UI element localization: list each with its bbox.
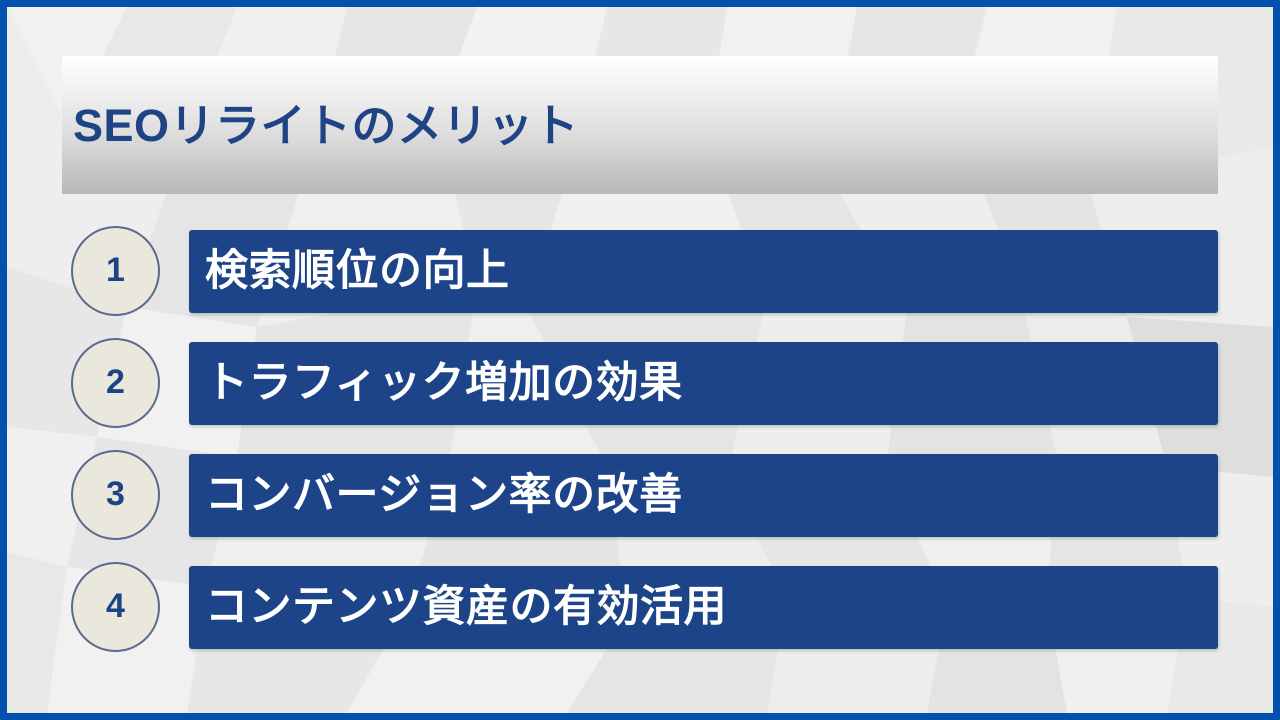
benefit-label: コンテンツ資産の有効活用 bbox=[205, 586, 727, 629]
benefits-list: 1 検索順位の向上 2 トラフィック増加の効果 3 コンバージョン率の改善 bbox=[7, 230, 1273, 678]
title-plate: SEOリライトのメリット bbox=[62, 56, 1218, 194]
benefit-label: トラフィック増加の効果 bbox=[205, 362, 683, 405]
benefit-bar[interactable]: コンテンツ資産の有効活用 bbox=[189, 566, 1218, 649]
benefit-bar[interactable]: 検索順位の向上 bbox=[189, 230, 1218, 313]
step-number-circle: 2 bbox=[71, 338, 160, 428]
benefit-bar[interactable]: コンバージョン率の改善 bbox=[189, 454, 1218, 537]
benefit-label: 検索順位の向上 bbox=[205, 250, 510, 293]
list-item[interactable]: 3 コンバージョン率の改善 bbox=[7, 454, 1273, 537]
step-number-label: 2 bbox=[106, 365, 125, 401]
step-number-circle: 4 bbox=[71, 562, 160, 652]
step-number-label: 4 bbox=[106, 589, 125, 625]
step-number-circle: 3 bbox=[71, 450, 160, 540]
step-number-circle: 1 bbox=[71, 226, 160, 316]
slide-canvas: SEOリライトのメリット 1 検索順位の向上 2 トラフィック増加の効果 3 コ bbox=[0, 0, 1280, 720]
list-item[interactable]: 1 検索順位の向上 bbox=[7, 230, 1273, 313]
step-number-label: 3 bbox=[106, 477, 125, 513]
page-title: SEOリライトのメリット bbox=[73, 103, 579, 148]
benefit-bar[interactable]: トラフィック増加の効果 bbox=[189, 342, 1218, 425]
step-number-label: 1 bbox=[106, 253, 125, 289]
benefit-label: コンバージョン率の改善 bbox=[205, 474, 683, 517]
list-item[interactable]: 4 コンテンツ資産の有効活用 bbox=[7, 566, 1273, 649]
list-item[interactable]: 2 トラフィック増加の効果 bbox=[7, 342, 1273, 425]
